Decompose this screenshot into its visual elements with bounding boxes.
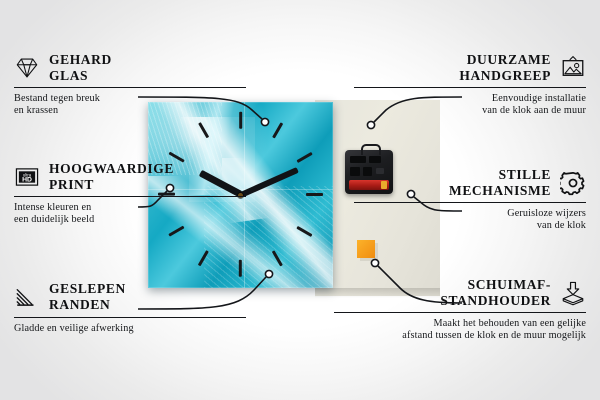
feature-title-line2: PRINT (49, 177, 174, 193)
ultra-hd-icon: ultra HD (14, 164, 40, 190)
diamond-icon (14, 55, 40, 81)
feature-heading: ultra HD HOOGWAARDIGE PRINT (14, 161, 246, 192)
beveled-edge-icon (14, 284, 40, 310)
feature-heading: GEHARD GLAS (14, 52, 246, 83)
feature-description: Bestand tegen breuk en krassen (14, 93, 246, 118)
feature-title: HOOGWAARDIGE PRINT (49, 161, 174, 192)
feature-heading: SCHUIMAF- STANDHOUDER (334, 277, 586, 308)
connector-dot (261, 118, 268, 125)
feature-title: GEHARD GLAS (49, 52, 112, 83)
feature-title: SCHUIMAF- STANDHOUDER (440, 277, 551, 308)
feature-title-line2: RANDEN (49, 297, 126, 313)
feature-desc-line1: Maakt het behouden van een gelijke (334, 318, 586, 330)
feature-desc-line2: en krassen (14, 105, 246, 117)
feature-desc-line1: Gladde en veilige afwerking (14, 323, 246, 335)
picture-hanger-icon (560, 55, 586, 81)
feature-desc-line2: afstand tussen de klok en de muur mogeli… (334, 330, 586, 342)
feature-divider (354, 202, 586, 203)
feature-heading: GESLEPEN RANDEN (14, 281, 246, 312)
feature-schuimafstandhouder: SCHUIMAF- STANDHOUDER Maakt het behouden… (334, 277, 586, 343)
feature-description: Intense kleuren en een duidelijk beeld (14, 202, 246, 227)
ultra-hd-icon-large-text: HD (22, 176, 32, 183)
feature-description: Maakt het behouden van een gelijke afsta… (334, 318, 586, 343)
feature-heading: STILLE MECHANISME (354, 167, 586, 198)
feature-heading: DUURZAME HANDGREEP (354, 52, 586, 83)
feature-desc-line1: Geruisloze wijzers (354, 208, 586, 220)
feature-title: GESLEPEN RANDEN (49, 281, 126, 312)
connector-dot (371, 259, 378, 266)
feature-title-line1: HOOGWAARDIGE (49, 161, 174, 177)
feature-title: STILLE MECHANISME (449, 167, 551, 198)
feature-duurzame-handgreep: DUURZAME HANDGREEP Eenvoudige installati… (354, 52, 586, 118)
feature-divider (354, 87, 586, 88)
feature-title-line1: GESLEPEN (49, 281, 126, 297)
feature-stille-mechanisme: STILLE MECHANISME Geruisloze wijzers van… (354, 167, 586, 233)
connector-dot (265, 270, 272, 277)
feature-gehard-glas: GEHARD GLAS Bestand tegen breuk en krass… (14, 52, 246, 118)
feature-desc-line2: van de klok (354, 220, 586, 232)
feature-title-line1: DUURZAME (459, 52, 551, 68)
spacer-arrow-icon (560, 280, 586, 306)
feature-title-line2: GLAS (49, 68, 112, 84)
feature-title-line1: SCHUIMAF- (440, 277, 551, 293)
connector-dot (367, 121, 374, 128)
feature-description: Gladde en veilige afwerking (14, 323, 246, 335)
feature-divider (14, 87, 246, 88)
feature-title-line1: STILLE (449, 167, 551, 183)
feature-desc-line1: Bestand tegen breuk (14, 93, 246, 105)
feature-desc-line2: een duidelijk beeld (14, 214, 246, 226)
feature-title-line2: HANDGREEP (459, 68, 551, 84)
feature-divider (14, 196, 246, 197)
feature-desc-line1: Eenvoudige installatie (354, 93, 586, 105)
feature-divider (334, 312, 586, 313)
gear-icon (560, 170, 586, 196)
feature-geslepen-randen: GESLEPEN RANDEN Gladde en veilige afwerk… (14, 281, 246, 335)
infographic-canvas: GEHARD GLAS Bestand tegen breuk en krass… (0, 0, 600, 400)
feature-title: DUURZAME HANDGREEP (459, 52, 551, 83)
feature-divider (14, 317, 246, 318)
feature-title-line2: MECHANISME (449, 183, 551, 199)
feature-title-line1: GEHARD (49, 52, 112, 68)
feature-title-line2: STANDHOUDER (440, 293, 551, 309)
feature-description: Geruisloze wijzers van de klok (354, 208, 586, 233)
feature-desc-line1: Intense kleuren en (14, 202, 246, 214)
feature-hoogwaardige-print: ultra HD HOOGWAARDIGE PRINT Intense kleu… (14, 161, 246, 227)
feature-desc-line2: van de klok aan de muur (354, 105, 586, 117)
feature-description: Eenvoudige installatie van de klok aan d… (354, 93, 586, 118)
